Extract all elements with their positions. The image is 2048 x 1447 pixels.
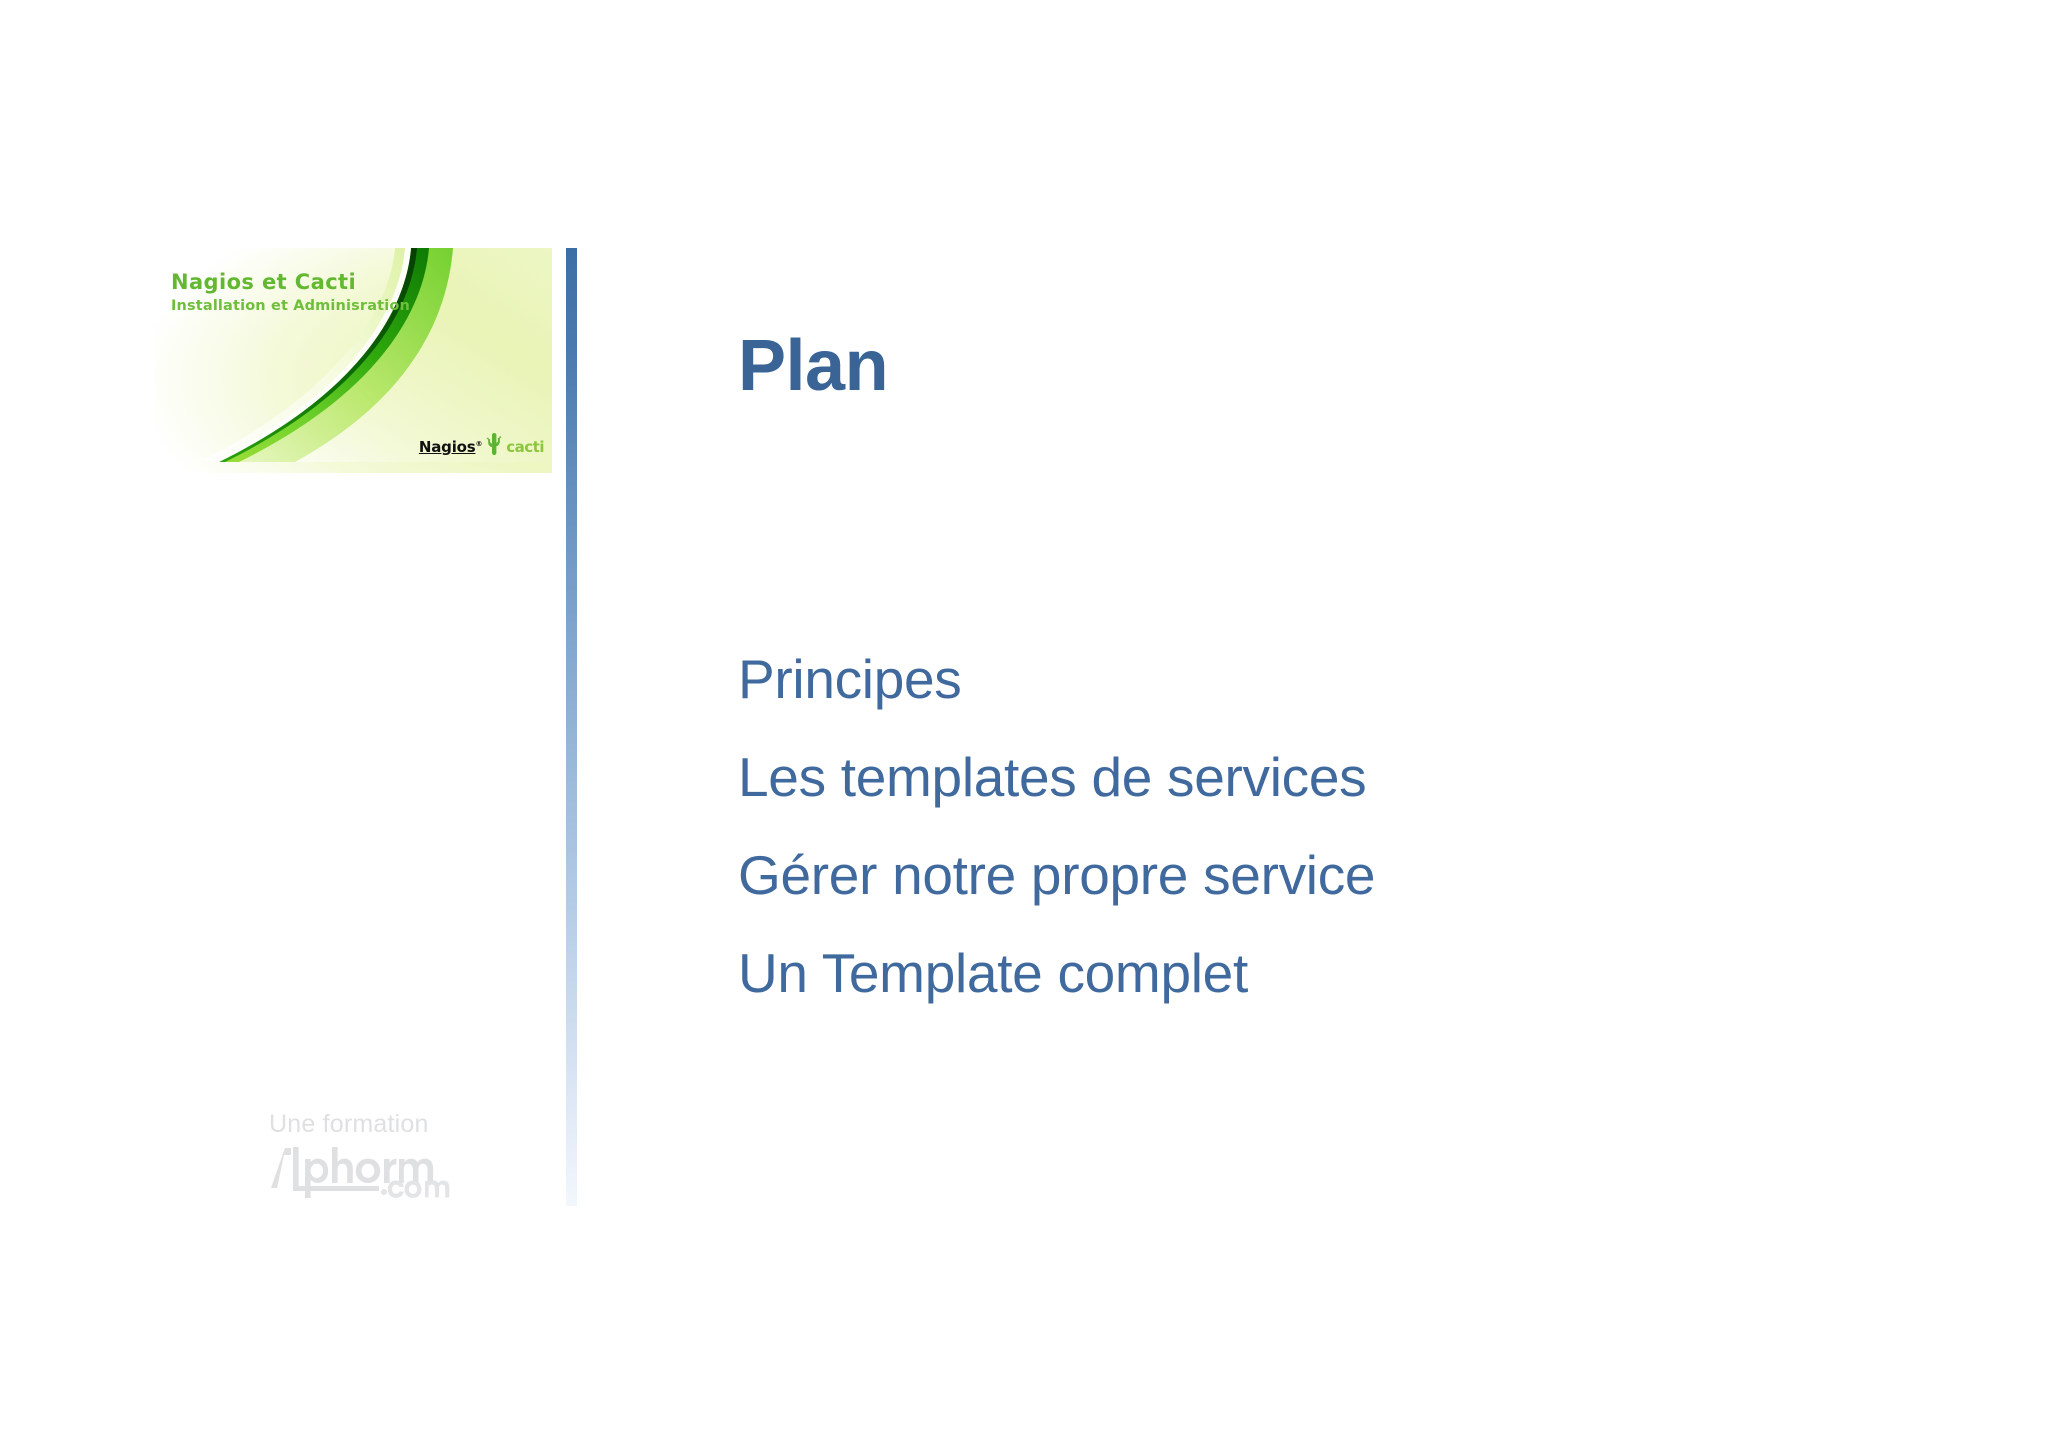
nagios-wordmark-text: Nagios [419,438,476,456]
cover-canvas: Nagios et Cacti Installation et Adminisr… [155,248,552,473]
slide-right-column: Plan Principes Les templates de services… [576,0,2048,1447]
list-item: Gérer notre propre service [738,826,1375,924]
alphorm-logo [265,1142,455,1204]
plan-outline-list: Principes Les templates de services Gére… [738,630,1375,1022]
footer-watermark: Une formation [265,1112,485,1204]
list-item: Un Template complet [738,924,1375,1022]
list-item: Les templates de services [738,728,1375,826]
cover-brand-lockup: Nagios® cacti [419,431,544,455]
page-title: Plan [738,330,888,402]
trademark-icon: ® [475,440,482,448]
cactus-icon [484,431,504,455]
alphorm-logo-glyphs [265,1142,455,1204]
cover-subtitle: Installation et Adminisration [171,298,410,314]
slide-canvas: Nagios et Cacti Installation et Adminisr… [0,0,2048,1447]
cacti-wordmark: cacti [506,440,544,455]
footer-tagline: Une formation [265,1112,485,1137]
list-item: Principes [738,630,1375,728]
course-cover-thumbnail: Nagios et Cacti Installation et Adminisr… [155,248,552,473]
slide-left-column: Nagios et Cacti Installation et Adminisr… [0,0,576,1447]
cover-title: Nagios et Cacti [171,270,356,294]
nagios-wordmark: Nagios® [419,440,482,455]
